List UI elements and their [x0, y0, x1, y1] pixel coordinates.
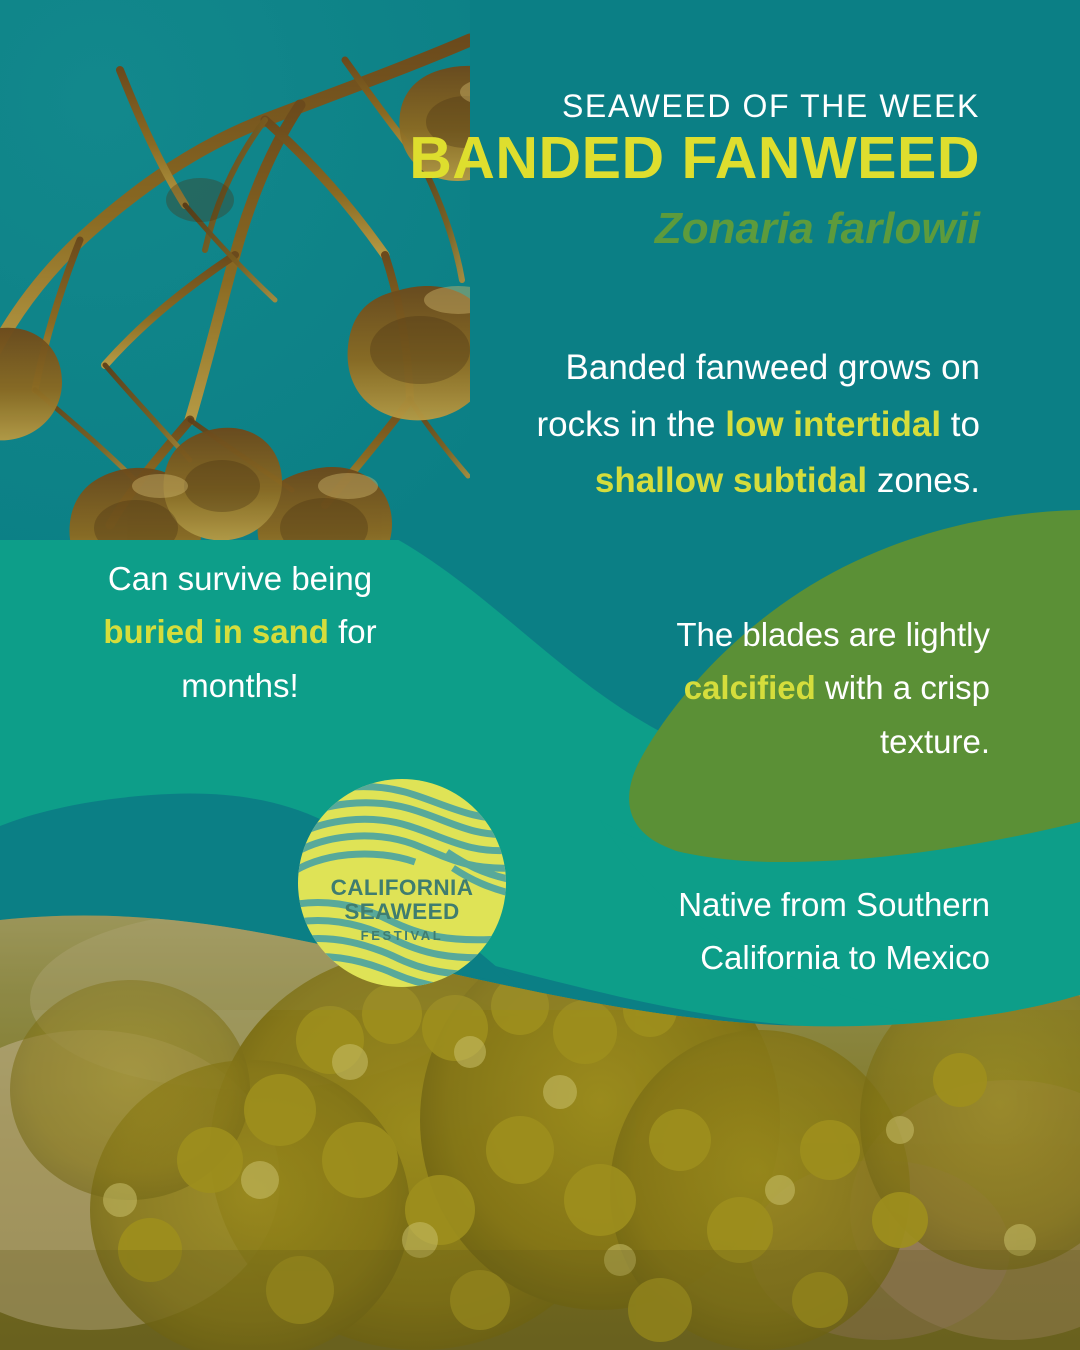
fact-calcified-part2: with a crisp texture. [816, 669, 990, 759]
species-name: Zonaria farlowii [380, 205, 980, 253]
logo-line-california: CALIFORNIA [331, 875, 474, 900]
seaweed-of-the-week-poster: SEAWEED OF THE WEEK BANDED FANWEED Zonar… [0, 0, 1080, 1350]
fact-habitat: Banded fanweed grows on rocks in the low… [480, 340, 980, 510]
page-title: BANDED FANWEED [300, 128, 980, 190]
logo-line-seaweed: SEAWEED [344, 899, 459, 924]
fact-calcified-highlight1: calcified [684, 669, 816, 706]
fact-habitat-highlight1: low intertidal [725, 405, 941, 444]
fact-buried-in-sand: Can survive being buried in sand for mon… [70, 552, 410, 712]
fact-habitat-part2: to [941, 405, 980, 444]
fact-native-range: Native from Southern California to Mexic… [590, 878, 990, 985]
top-left-photo [0, 0, 529, 590]
fact-calcified-blades: The blades are lightly calcified with a … [600, 608, 990, 768]
fact-range-part1: Native from Southern California to Mexic… [678, 886, 990, 976]
fact-habitat-part3: zones. [867, 461, 980, 500]
fact-calcified-part1: The blades are lightly [676, 616, 990, 653]
fact-sand-part1: Can survive being [108, 560, 372, 597]
california-seaweed-festival-logo[interactable]: CALIFORNIA SEAWEED FESTIVAL [297, 778, 507, 988]
fact-sand-highlight1: buried in sand [103, 613, 329, 650]
fact-habitat-highlight2: shallow subtidal [595, 461, 867, 500]
logo-line-festival: FESTIVAL [361, 928, 444, 943]
kicker-label: SEAWEED OF THE WEEK [470, 88, 980, 125]
